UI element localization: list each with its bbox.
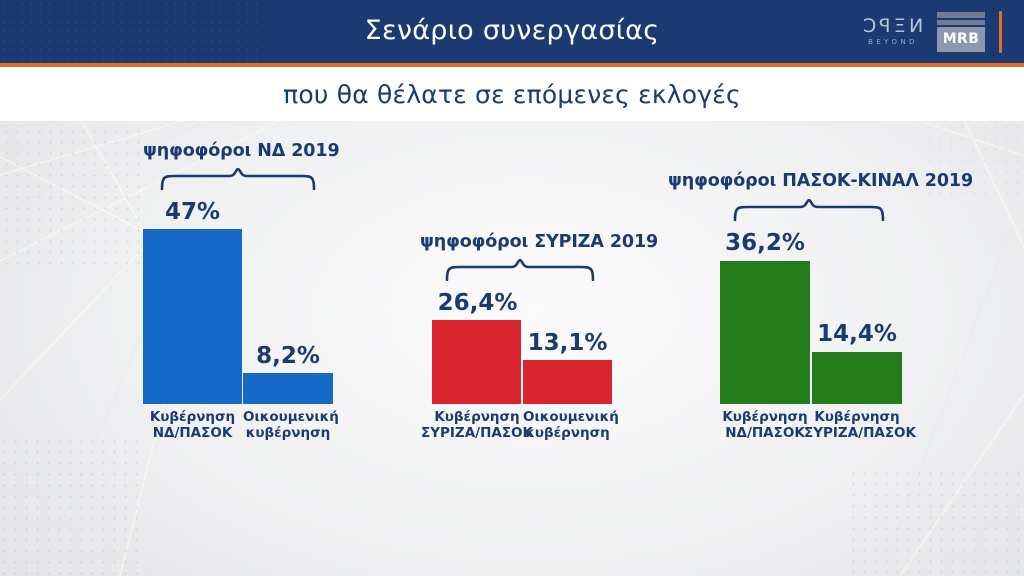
open-letter-e-icon: Ξ [894, 17, 906, 36]
cat-label-nd-1-line2: κυβέρνηση [243, 425, 333, 441]
cat-label-pasok-0-line2: ΝΔ/ΠΑΣΟΚ [715, 425, 815, 441]
open-wordmark: Ɔ P Ξ N [863, 17, 923, 36]
bar-value-pasok-0: 36,2% [718, 230, 812, 256]
group-brace-pasok [732, 199, 887, 221]
cat-label-nd-0-line1: Κυβέρνηση [139, 409, 246, 425]
bar-nd-kyvernisi-nd-pasok [143, 229, 242, 404]
mrb-logo: MRB [937, 12, 985, 52]
group-brace-nd [159, 168, 317, 190]
cat-label-syriza-1-line2: κυβέρνηση [523, 425, 612, 441]
logo-cluster: Ɔ P Ξ N BEYOND MRB [863, 0, 1002, 63]
bar-pasok-kyvernisi-syriza-pasok [812, 352, 902, 404]
bar-nd-oikoumeniki [243, 373, 333, 404]
cat-label-syriza-0: Κυβέρνηση ΣΥΡΙΖΑ/ΠΑΣΟΚ [418, 409, 536, 441]
bar-value-syriza-0: 26,4% [428, 290, 527, 316]
open-beyond-logo: Ɔ P Ξ N BEYOND [863, 17, 923, 46]
bar-syriza-oikoumeniki [523, 360, 612, 404]
cat-label-nd-1-line1: Οικουμενική [243, 409, 333, 425]
group-title-pasok: ψηφοφόροι ΠΑΣΟΚ-ΚΙΝΑΛ 2019 [668, 171, 954, 191]
chart-group-syriza: ψηφοφόροι ΣΥΡΙΖΑ 2019 26,4% 13,1% Κυβέρν… [432, 121, 612, 404]
open-letter-o-icon: Ɔ [863, 17, 876, 36]
header-accent-bar [999, 11, 1002, 53]
chart-group-pasok: ψηφοφόροι ΠΑΣΟΚ-ΚΙΝΑΛ 2019 36,2% 14,4% Κ… [720, 121, 902, 404]
page-subtitle: που θα θέλατε σε επόμενες εκλογές [283, 80, 741, 109]
group-brace-syriza [444, 259, 596, 281]
cat-label-pasok-0: Κυβέρνηση ΝΔ/ΠΑΣΟΚ [715, 409, 815, 441]
cat-label-pasok-1: Κυβέρνηση ΣΥΡΙΖΑ/ΠΑΣΟΚ [804, 409, 910, 441]
cat-label-pasok-0-line1: Κυβέρνηση [715, 409, 815, 425]
mrb-logo-bar-mid [937, 20, 985, 25]
chart-group-nd: ψηφοφόροι ΝΔ 2019 47% 8,2% Κυβέρνηση ΝΔ/… [143, 121, 333, 404]
dot-texture-bottom-right [848, 468, 1024, 576]
mrb-logo-bar-top [937, 12, 985, 18]
open-letter-n-icon: N [909, 17, 923, 36]
bar-value-nd-0: 47% [143, 199, 242, 225]
cat-label-syriza-1: Οικουμενική κυβέρνηση [523, 409, 612, 441]
cat-label-nd-1: Οικουμενική κυβέρνηση [243, 409, 333, 441]
cat-label-syriza-1-line1: Οικουμενική [523, 409, 612, 425]
chart-canvas: ψηφοφόροι ΝΔ 2019 47% 8,2% Κυβέρνηση ΝΔ/… [0, 121, 1024, 576]
group-title-nd: ψηφοφόροι ΝΔ 2019 [143, 141, 333, 161]
dot-texture-top-left [0, 121, 140, 265]
bar-syriza-kyvernisi-syriza-pasok [432, 320, 521, 404]
group-title-syriza: ψηφοφόροι ΣΥΡΙΖΑ 2019 [420, 232, 625, 252]
bar-value-nd-1: 8,2% [243, 343, 333, 369]
bar-value-pasok-1: 14,4% [812, 321, 902, 347]
dot-texture-bottom-left [0, 436, 138, 576]
bar-pasok-kyvernisi-nd-pasok [720, 261, 810, 404]
page-header: Σενάριο συνεργασίας Ɔ P Ξ N BEYOND MRB [0, 0, 1024, 63]
cat-label-syriza-0-line1: Κυβέρνηση [418, 409, 536, 425]
subtitle-band: που θα θέλατε σε επόμενες εκλογές [0, 67, 1024, 121]
mrb-logo-text: MRB [937, 27, 985, 52]
bar-value-syriza-1: 13,1% [523, 330, 612, 356]
cat-label-nd-0-line2: ΝΔ/ΠΑΣΟΚ [139, 425, 246, 441]
cat-label-nd-0: Κυβέρνηση ΝΔ/ΠΑΣΟΚ [139, 409, 246, 441]
cat-label-pasok-1-line1: Κυβέρνηση [804, 409, 910, 425]
beyond-wordmark: BEYOND [868, 38, 918, 46]
cat-label-pasok-1-line2: ΣΥΡΙΖΑ/ΠΑΣΟΚ [804, 425, 910, 441]
open-letter-p-icon: P [879, 17, 890, 36]
cat-label-syriza-0-line2: ΣΥΡΙΖΑ/ΠΑΣΟΚ [418, 425, 536, 441]
